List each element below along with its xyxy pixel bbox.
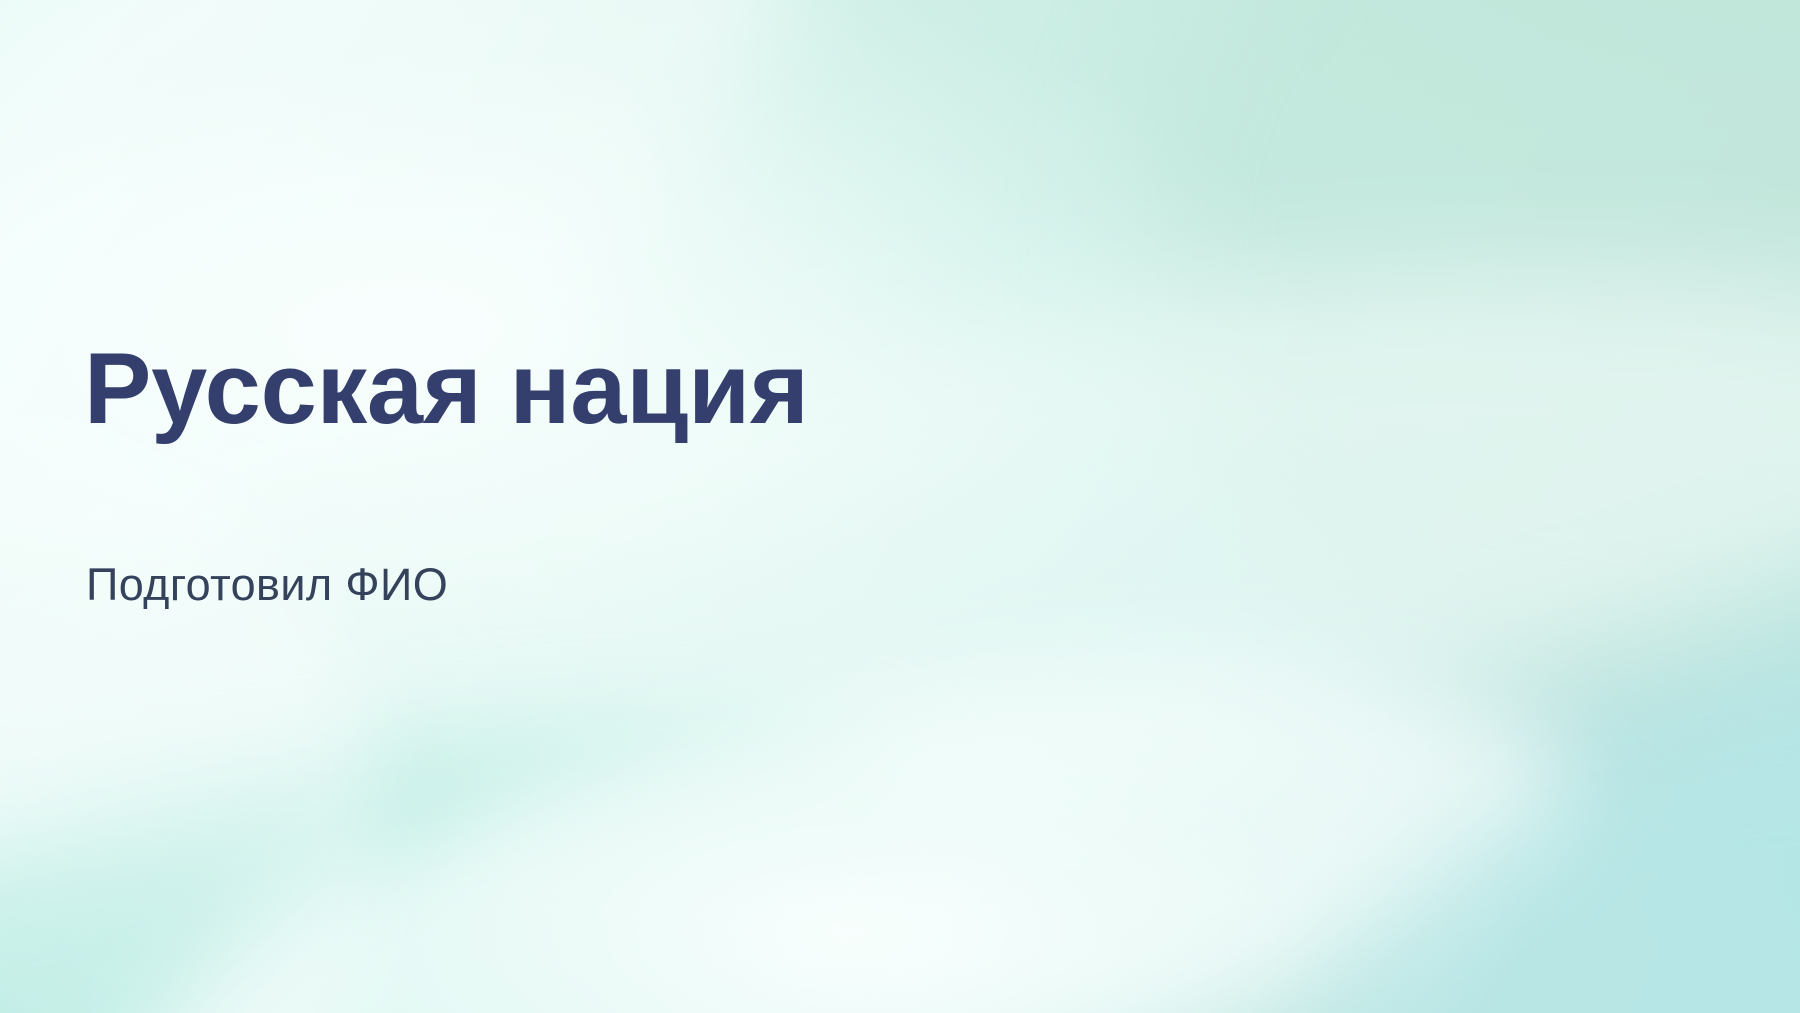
page-title: Русская нация: [84, 330, 809, 449]
title-block: Русская нация Подготовил ФИО: [84, 0, 1284, 1013]
slide-subtitle-author: Подготовил ФИО: [86, 558, 448, 612]
title-slide: Русская нация Подготовил ФИО: [0, 0, 1800, 1013]
